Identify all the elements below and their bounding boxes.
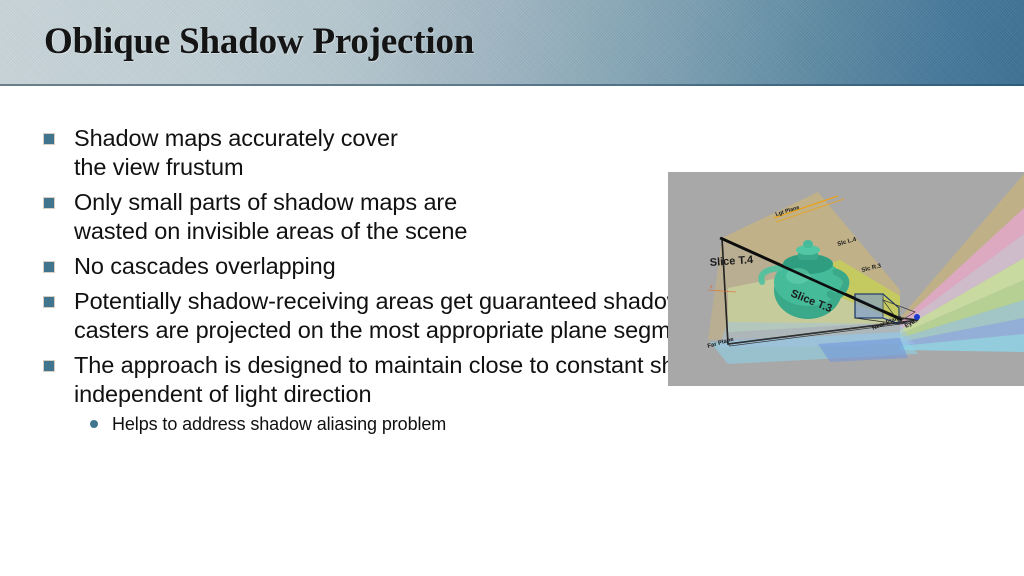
page-title: Oblique Shadow Projection bbox=[44, 19, 474, 65]
sub-list-item-label: Helps to address shadow aliasing problem bbox=[112, 414, 446, 434]
square-bullet-icon bbox=[44, 297, 54, 307]
frustum-diagram-image: Lgt Plane x Slice T.4 Slice T.3 Slc L.4 … bbox=[668, 172, 1024, 386]
slide-title-bar: Oblique Shadow Projection bbox=[0, 0, 1024, 84]
round-bullet-icon bbox=[90, 420, 98, 428]
slide-root: Oblique Shadow Projection Shadow maps ac… bbox=[0, 0, 1024, 576]
sub-list-item: Helps to address shadow aliasing problem bbox=[82, 412, 966, 436]
square-bullet-icon bbox=[44, 262, 54, 272]
list-item-label: Shadow maps accurately cover the view fr… bbox=[74, 124, 634, 182]
slide-body: Shadow maps accurately cover the view fr… bbox=[0, 86, 1024, 576]
square-bullet-icon bbox=[44, 134, 54, 144]
list-item: Shadow maps accurately cover the view fr… bbox=[36, 124, 634, 182]
square-bullet-icon bbox=[44, 361, 54, 371]
sub-bullet-list: Helps to address shadow aliasing problem bbox=[74, 412, 966, 436]
square-bullet-icon bbox=[44, 198, 54, 208]
